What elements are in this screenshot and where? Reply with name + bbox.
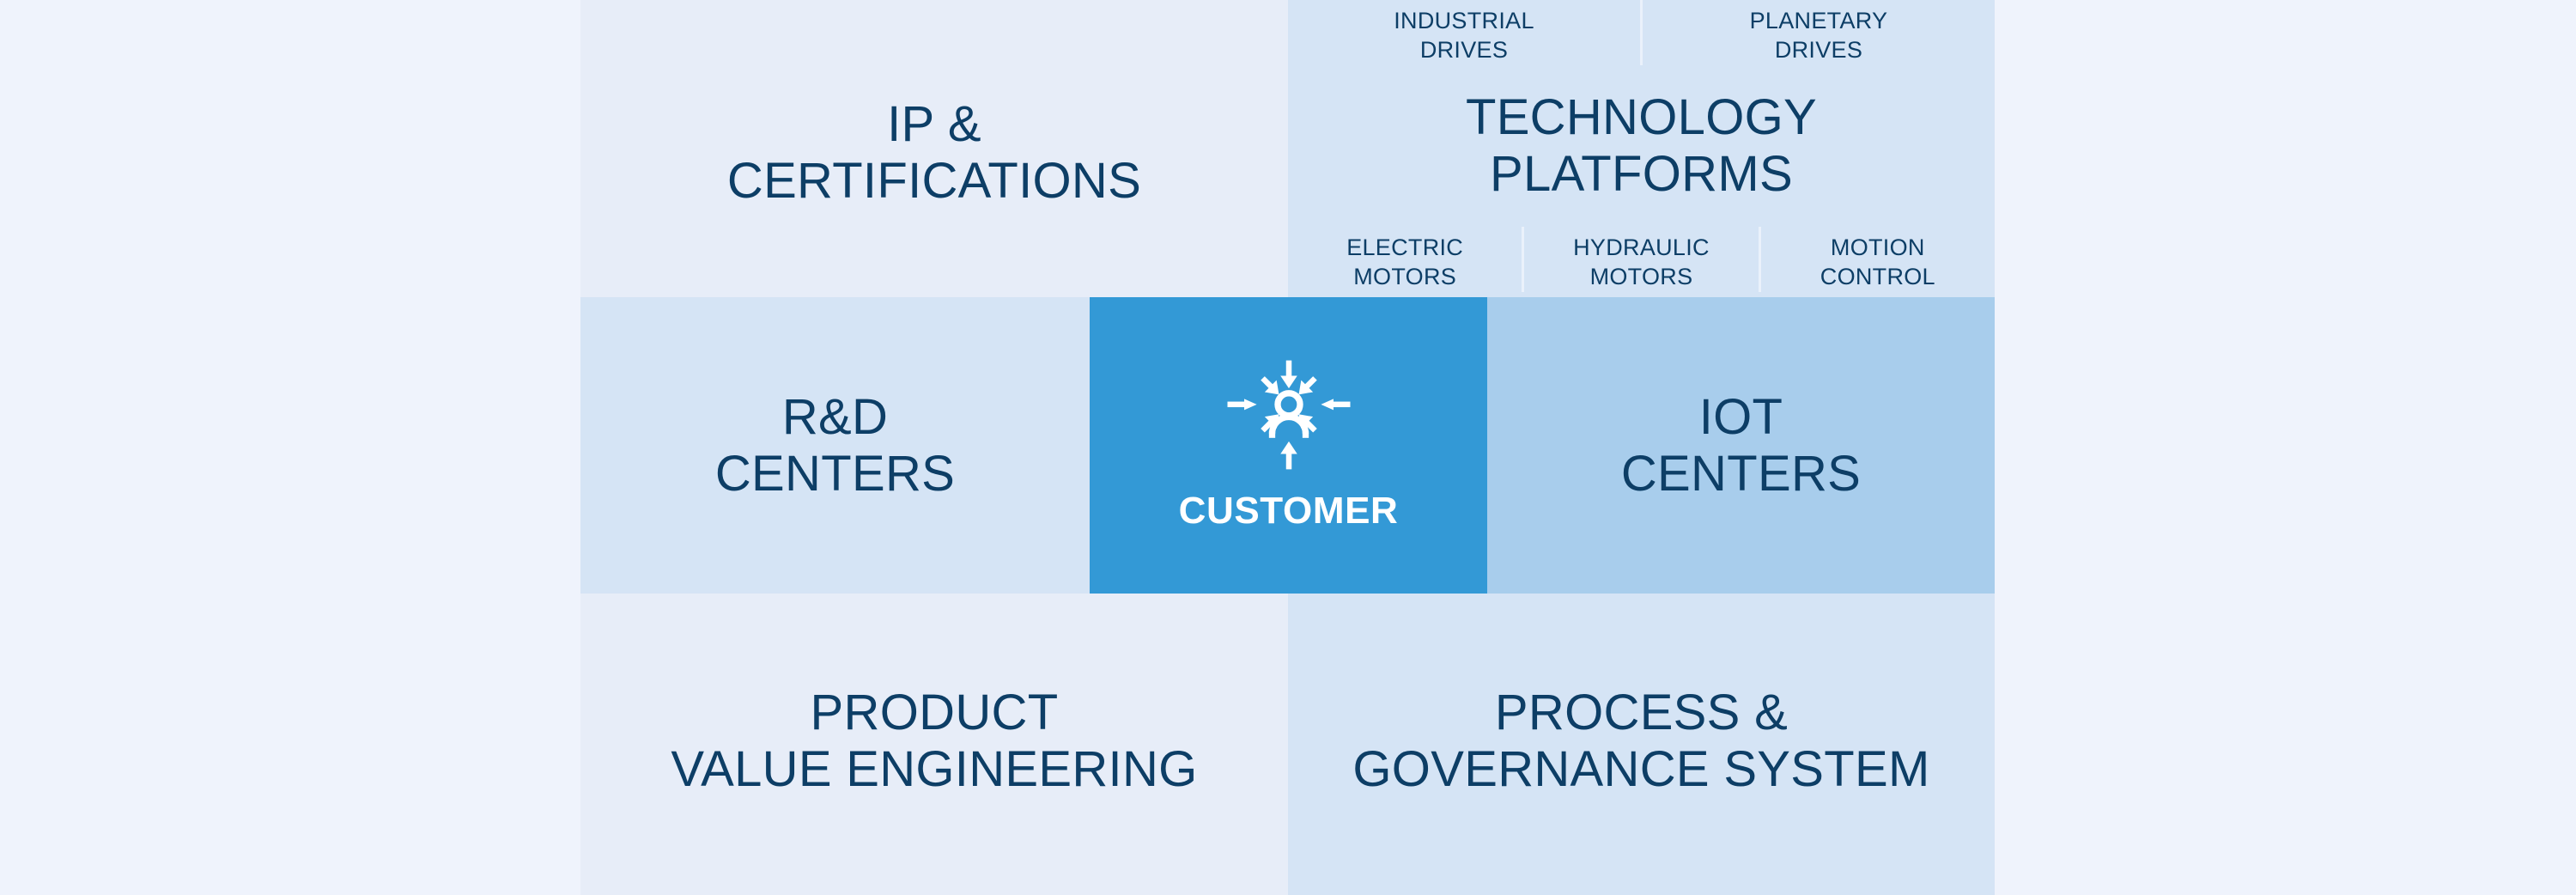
technology-platforms-sub-bottom: ELECTRIC MOTORS HYDRAULIC MOTORS MOTION … [1288,227,1995,297]
sublabel-hydraulic-motors[interactable]: HYDRAULIC MOTORS [1522,227,1758,292]
tile-title-rd-centers: R&D CENTERS [715,389,955,502]
sublabel-electric-motors[interactable]: ELECTRIC MOTORS [1288,227,1522,292]
technology-platforms-title-wrap: TECHNOLOGY PLATFORMS [1288,69,1995,227]
tile-ip-certifications[interactable]: IP & CERTIFICATIONS [580,0,1288,297]
tile-technology-platforms[interactable]: INDUSTRIAL DRIVES PLANETARY DRIVES TECHN… [1288,0,1995,297]
tile-customer[interactable]: CUSTOMER [1090,297,1487,594]
tile-process-governance-system[interactable]: PROCESS & GOVERNANCE SYSTEM [1288,594,1995,895]
sublabel-planetary-drives[interactable]: PLANETARY DRIVES [1640,0,1995,65]
tile-title-product-value-engineering: PRODUCT VALUE ENGINEERING [671,685,1197,797]
technology-platforms-sub-top: INDUSTRIAL DRIVES PLANETARY DRIVES [1288,0,1995,69]
tile-iot-centers[interactable]: IOT CENTERS [1487,297,1995,594]
sublabel-industrial-drives[interactable]: INDUSTRIAL DRIVES [1288,0,1640,65]
tile-title-technology-platforms: TECHNOLOGY PLATFORMS [1466,89,1817,202]
capability-grid: IP & CERTIFICATIONS INDUSTRIAL DRIVES PL… [580,0,1995,895]
tile-title-process-governance-system: PROCESS & GOVERNANCE SYSTEM [1352,685,1929,797]
sublabel-motion-control[interactable]: MOTION CONTROL [1759,227,1995,292]
tile-title-customer: CUSTOMER [1179,490,1399,533]
tile-product-value-engineering[interactable]: PRODUCT VALUE ENGINEERING [580,594,1288,895]
tile-title-iot-centers: IOT CENTERS [1621,389,1861,502]
tile-rd-centers[interactable]: R&D CENTERS [580,297,1090,594]
tile-title-ip-certifications: IP & CERTIFICATIONS [727,96,1141,209]
person-with-converging-arrows-icon [1216,359,1362,471]
